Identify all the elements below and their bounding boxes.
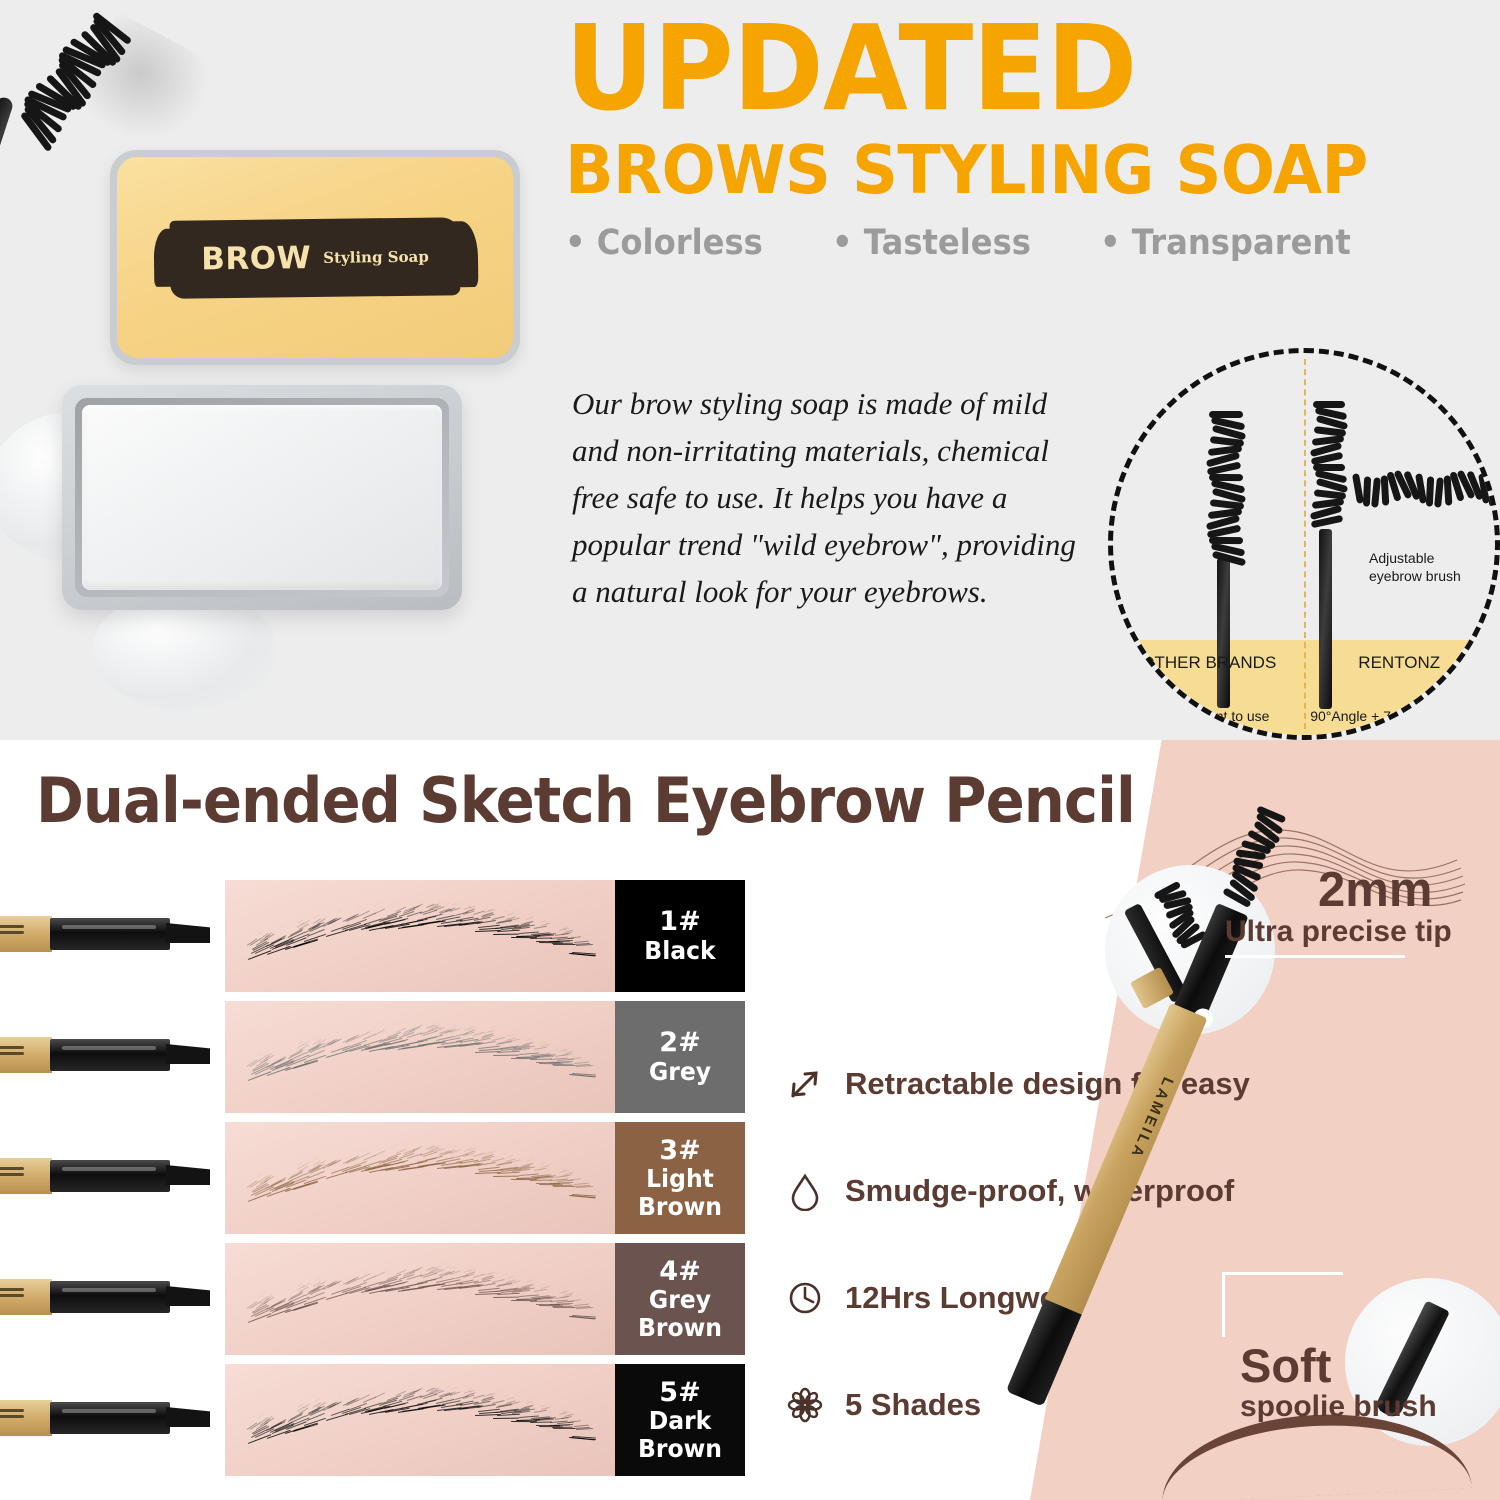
shade-name: Grey Brown [619, 1286, 741, 1341]
pencil-black [0, 908, 223, 960]
brush-desc-label: spoolie brush [1240, 1390, 1437, 1424]
pencil-tip [166, 1286, 210, 1306]
shade-chip-1[interactable]: 1#Black [615, 880, 745, 992]
feature-bullets: Colorless Tasteless Transparent [565, 223, 1480, 263]
wand-handle [0, 95, 15, 395]
shade-number: 3# [659, 1136, 700, 1166]
pencil-tip [166, 1407, 210, 1427]
tip-desc-label: Ultra precise tip [1225, 915, 1452, 949]
shade-chip-2[interactable]: 2#Grey [615, 1001, 745, 1113]
rentonz-desc: 90°Angle + 7mm brush head [1309, 708, 1489, 726]
other-brand-stick [1217, 558, 1230, 708]
section-title: Dual-ended Sketch Eyebrow Pencil [36, 764, 1135, 837]
brow-hairs [247, 1384, 587, 1454]
shade-row: 1#Black [225, 880, 745, 992]
brow-preview-image [225, 1364, 615, 1476]
pencil-body [50, 918, 170, 950]
shade-number: 5# [659, 1378, 700, 1408]
diagonal-arrows-icon [785, 1064, 825, 1104]
pencil-tip [166, 923, 210, 943]
tin-logo-sub: Styling Soap [323, 247, 429, 266]
brow-hairs [247, 1142, 587, 1212]
shade-chip-5[interactable]: 5#Dark Brown [615, 1364, 745, 1476]
shade-chip-3[interactable]: 3#Light Brown [615, 1122, 745, 1234]
shade-number: 1# [659, 907, 700, 937]
brow-preview-image [225, 1001, 615, 1113]
pencil-lower-tip [1006, 1299, 1082, 1407]
tin-logo-main: BROW [201, 240, 311, 277]
soap-bar [82, 405, 442, 590]
droplet-icon [785, 1171, 825, 1211]
pencil-body [50, 1281, 170, 1313]
adjustable-brush-callout: Adjustable eyebrow brush [1369, 549, 1487, 585]
brow-preview-image [225, 880, 615, 992]
pencil-gold-cap [0, 916, 52, 952]
shade-name: Light Brown [619, 1165, 741, 1220]
brush-stroke-logo: BROW Styling Soap [170, 217, 461, 299]
headline-secondary: BROWS STYLING SOAP [565, 136, 1434, 206]
rentonz-brush-vertical [1313, 401, 1347, 531]
bullet-colorless: Colorless [565, 223, 763, 263]
flower-icon [785, 1385, 825, 1425]
callout-bracket [1222, 1272, 1343, 1337]
feature-label: Smudge-proof, waterproof [845, 1173, 1234, 1209]
comparison-divider [1304, 359, 1306, 729]
pencil-gold-cap [0, 1037, 52, 1073]
shade-name: Black [644, 937, 715, 965]
other-brands-label: OTHER BRANDS [1119, 653, 1299, 673]
shade-row: 5#Dark Brown [225, 1364, 745, 1476]
shade-chip-4[interactable]: 4#Grey Brown [615, 1243, 745, 1355]
other-brand-brush [1209, 411, 1243, 561]
shade-name: Dark Brown [619, 1407, 741, 1462]
bullet-tasteless: Tasteless [832, 223, 1031, 263]
pencil-body [50, 1039, 170, 1071]
tip-size-label: 2mm [1318, 862, 1432, 918]
shade-row: 4#Grey Brown [225, 1243, 745, 1355]
headline-primary: UPDATED [565, 14, 1416, 124]
pencil-tip [166, 1044, 210, 1064]
brush-title-label: Soft [1240, 1338, 1331, 1393]
pencil-grey [0, 1029, 223, 1081]
shade-row: 3#Light Brown [225, 1122, 745, 1234]
pencil-dark-brown [0, 1392, 223, 1444]
tin-rim [75, 398, 449, 597]
pencil-light-brown [0, 1150, 223, 1202]
pencil-gold-cap [0, 1279, 52, 1315]
rentonz-brush-horizontal [1343, 485, 1493, 519]
shade-number: 2# [659, 1028, 700, 1058]
shade-row: 2#Grey [225, 1001, 745, 1113]
comparison-circle: Adjustable eyebrow brush OTHER BRANDS In… [1108, 348, 1500, 740]
pencil-body [50, 1402, 170, 1434]
top-panel: BROW Styling Soap UPDATED BROWS STYLING … [0, 0, 1500, 740]
feature-label: 5 Shades [845, 1387, 981, 1423]
other-brands-desc: Inconvenient to use [1119, 708, 1299, 726]
pencil-body [50, 1160, 170, 1192]
clock-icon [785, 1278, 825, 1318]
shade-number: 4# [659, 1257, 700, 1287]
pencil-grey-brown [0, 1271, 223, 1323]
brow-hairs [247, 900, 587, 970]
pencil-gold-cap [0, 1400, 52, 1436]
brow-hairs [247, 1021, 587, 1091]
pencil-tip [166, 1165, 210, 1185]
shade-name: Grey [649, 1058, 711, 1086]
pencil-gold-cap [0, 1158, 52, 1194]
product-description: Our brow styling soap is made of mild an… [572, 380, 1077, 616]
headline-block: UPDATED BROWS STYLING SOAP Colorless Tas… [565, 14, 1480, 263]
tin-lid-face: BROW Styling Soap [117, 157, 513, 358]
bullet-transparent: Transparent [1100, 223, 1351, 263]
brow-preview-image [225, 1122, 615, 1234]
feature-row: Smudge-proof, waterproof [785, 1137, 1255, 1244]
rentonz-stick [1319, 529, 1332, 709]
soap-tin-lid: BROW Styling Soap [110, 150, 520, 365]
brow-preview-image [225, 1243, 615, 1355]
soap-tin-open [62, 385, 462, 610]
annotation-underline [1225, 955, 1405, 958]
brow-hairs [247, 1263, 587, 1333]
product-infographic: BROW Styling Soap UPDATED BROWS STYLING … [0, 0, 1500, 1500]
rentonz-label: RENTONZ [1309, 653, 1489, 673]
